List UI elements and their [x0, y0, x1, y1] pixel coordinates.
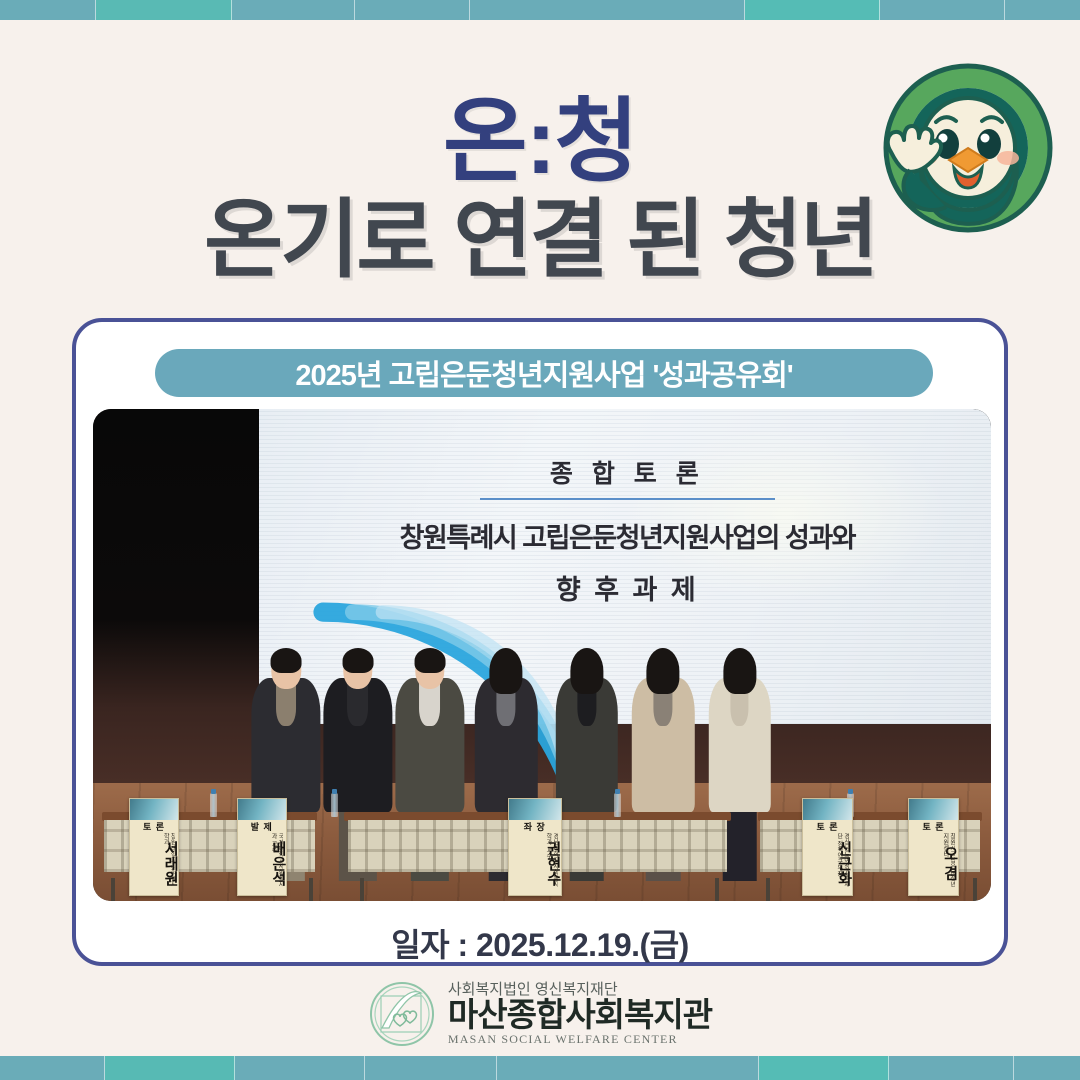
event-banner-label: 2025년 고립은둔청년지원사업 '성과공유회': [295, 352, 792, 394]
top-stripe-band: [0, 0, 1080, 20]
stripe-segment-1: [105, 1056, 235, 1080]
person-hair: [489, 648, 522, 694]
name-placard: 발 제배은석국제대학교사회복지과 교수: [237, 798, 287, 896]
placard-accent-band: [238, 799, 286, 820]
stripe-segment-7: [1014, 1056, 1080, 1080]
stripe-segment-4: [470, 0, 745, 20]
person-hair: [342, 648, 373, 673]
stripe-segment-3: [365, 1056, 497, 1080]
stripe-segment-5: [745, 0, 880, 20]
placard-role-label: 토 론: [909, 820, 957, 833]
placard-accent-band: [909, 799, 957, 820]
placard-role-label: 좌 장: [509, 820, 561, 833]
placard-organization-label: 국제대학교사회복지과 교수: [269, 833, 283, 891]
stripe-segment-2: [232, 0, 355, 20]
water-bottle: [331, 793, 338, 818]
person-hair: [723, 648, 756, 694]
person-hair: [647, 648, 680, 694]
placard-accent-band: [130, 799, 178, 820]
stripe-segment-7: [1005, 0, 1080, 20]
stripe-segment-6: [880, 0, 1005, 20]
person-torso: [251, 678, 320, 812]
person-torso: [556, 678, 618, 812]
placard-organization-label: 창원대학교사회복지학과: [161, 833, 175, 891]
stripe-segment-0: [0, 0, 96, 20]
placard-accent-band: [509, 799, 561, 820]
table-leg: [715, 878, 719, 901]
stripe-segment-2: [235, 1056, 365, 1080]
placard-role-label: 토 론: [803, 820, 851, 833]
footer-logo: 사회복지법인 영신복지재단 마산종합사회복지관 MASAN SOCIAL WEL…: [0, 980, 1080, 1048]
center-name-english: MASAN SOCIAL WELFARE CENTER: [448, 1033, 712, 1046]
person-torso: [395, 678, 464, 812]
name-placard: 토 론오 겸창원시고립은둔청년지원센터: [908, 798, 958, 896]
stripe-segment-6: [889, 1056, 1014, 1080]
poster-root: 온:청 온기로 연결 된 청년 2025년 고립은둔청년지원사업 '성: [0, 0, 1080, 1080]
name-placard: 좌 장권현수경남대학교사회복지학과 교수: [508, 798, 562, 896]
stripe-segment-3: [355, 0, 470, 20]
stripe-segment-1: [96, 0, 232, 20]
stripe-segment-4: [497, 1056, 759, 1080]
event-date: 일자 : 2025.12.19.(금): [76, 920, 1004, 966]
bird-mascot-icon: [858, 48, 1066, 256]
water-bottle: [614, 793, 621, 818]
water-bottle: [210, 793, 217, 818]
name-placard: 토 론신근화경상남도여성가족재단 정책연구부장: [802, 798, 852, 896]
table-leg: [309, 878, 313, 901]
person-shirt: [348, 683, 369, 726]
stripe-segment-5: [759, 1056, 889, 1080]
placard-accent-band: [803, 799, 851, 820]
placard-organization-label: 경남대학교사회복지학과 교수: [544, 833, 558, 891]
footer-text-block: 사회복지법인 영신복지재단 마산종합사회복지관 MASAN SOCIAL WEL…: [448, 982, 712, 1046]
content-card: 2025년 고립은둔청년지원사업 '성과공유회' 종 합 토 론 창원특례시 고…: [72, 318, 1008, 966]
center-name: 마산종합사회복지관: [448, 998, 712, 1033]
person-shirt: [419, 683, 440, 726]
placard-organization-label: 경상남도여성가족재단 정책연구부장: [835, 833, 849, 891]
table-leg: [360, 878, 364, 901]
event-banner: 2025년 고립은둔청년지원사업 '성과공유회': [155, 349, 933, 397]
person-hair: [271, 648, 302, 673]
event-photo: 종 합 토 론 창원특례시 고립은둔청년지원사업의 성과와 향 후 과 제 토 …: [93, 409, 991, 901]
bottom-stripe-band: [0, 1056, 1080, 1080]
person-hair: [570, 648, 603, 694]
stripe-segment-0: [0, 1056, 105, 1080]
placard-organization-label: 창원시고립은둔청년지원센터: [941, 833, 955, 891]
person-torso: [475, 678, 537, 812]
table-leg: [973, 878, 977, 901]
name-placard: 토 론서래원창원대학교사회복지학과: [129, 798, 179, 896]
table-leg: [766, 878, 770, 901]
person-torso: [708, 678, 770, 812]
placard-role-label: 토 론: [130, 820, 178, 833]
welfare-center-emblem-icon: [368, 980, 436, 1048]
person-torso: [632, 678, 694, 812]
person-hair: [414, 648, 445, 673]
table-leg: [111, 878, 115, 901]
person-shirt: [276, 683, 297, 726]
placard-role-label: 발 제: [238, 820, 286, 833]
